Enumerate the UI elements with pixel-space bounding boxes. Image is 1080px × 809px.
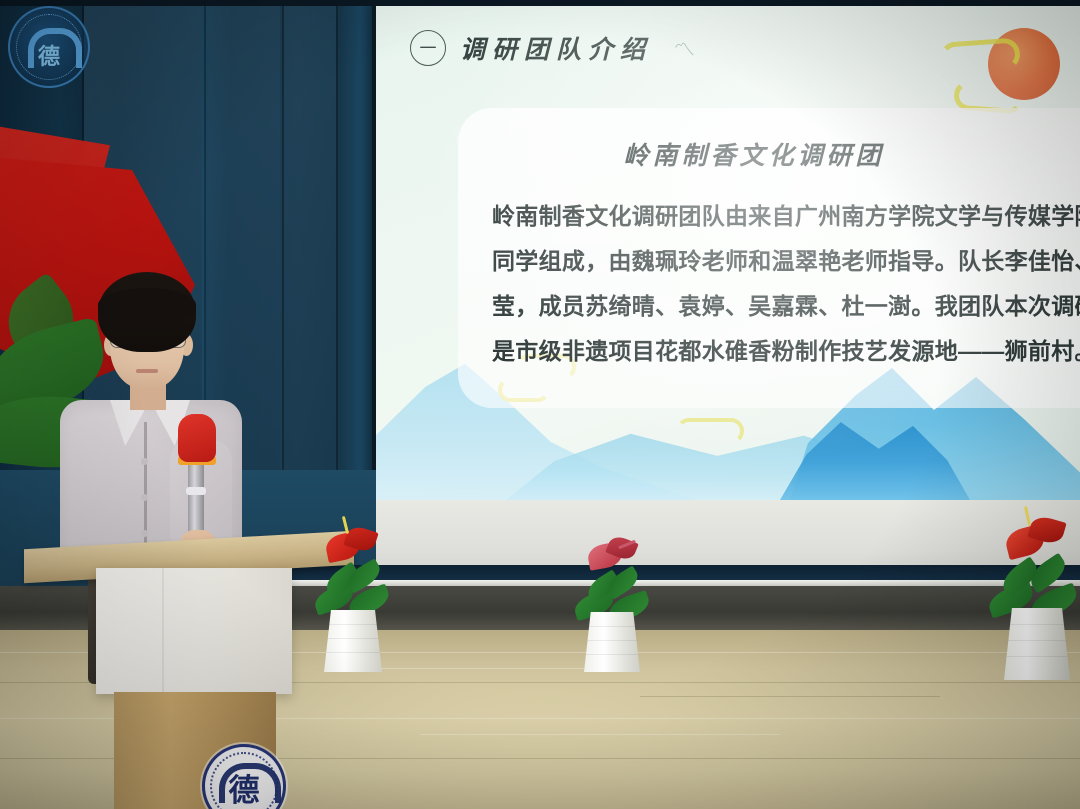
slide-section-title: 调研团队介绍: [460, 30, 652, 66]
section-index-circle: 一: [410, 30, 446, 66]
slide-content-card: 岭南制香文化调研团 岭南制香文化调研团队由来自广州南方学院文学与传媒学院的6 同…: [458, 108, 1080, 408]
university-emblem-icon: 德: [202, 744, 286, 809]
podium-body: [96, 568, 292, 694]
presentation-photo-scene: 一 调研团队介绍 〽 岭南制香文化调研团 岭南制香文化调研团队由来自广州南方学院…: [0, 0, 1080, 809]
microphone-head: [178, 414, 216, 462]
potted-plant-right: [996, 504, 1076, 680]
slide-body-line: 是市级非遗项目花都水碓香粉制作技艺发源地——狮前村。: [492, 329, 1080, 374]
projection-screen: 一 调研团队介绍 〽 岭南制香文化调研团 岭南制香文化调研团队由来自广州南方学院…: [376, 0, 1080, 500]
cloud-swirl-icon: [676, 418, 744, 444]
slide-body-line: 岭南制香文化调研团队由来自广州南方学院文学与传媒学院的6: [492, 194, 1080, 239]
potted-plant-center: [578, 524, 646, 672]
slide-body-line: 同学组成，由魏珮玲老师和温翠艳老师指导。队长李佳怡、钟洁: [492, 239, 1080, 284]
slide-section-header: 一 调研团队介绍 〽: [410, 30, 694, 66]
university-emblem-logo: 德: [8, 6, 90, 88]
plant-pot: [324, 610, 382, 672]
slide-body-line: 莹，成员苏绮晴、袁婷、吴嘉霖、杜一澍。我团队本次调研地点: [492, 284, 1080, 329]
section-index-label: 一: [420, 40, 437, 57]
presenter-hair-fringe: [98, 288, 196, 322]
photo-top-bar: [0, 0, 1080, 6]
potted-plant-left: [318, 512, 386, 672]
microphone-ring: [186, 487, 206, 495]
plant-foliage: [318, 512, 386, 616]
plant-foliage: [578, 524, 646, 620]
plant-foliage: [996, 502, 1076, 618]
mouth: [136, 369, 158, 373]
podium-wood-panel: 德: [114, 692, 276, 809]
brush-stroke-icon: 〽: [672, 32, 696, 64]
plant-pot: [1004, 608, 1070, 680]
plant-pot: [584, 612, 640, 672]
student-presenter: [52, 272, 252, 572]
podium: 德: [72, 540, 312, 809]
slide-card-title: 岭南制香文化调研团: [458, 108, 1080, 172]
slide-card-body: 岭南制香文化调研团队由来自广州南方学院文学与传媒学院的6 同学组成，由魏珮玲老师…: [458, 194, 1080, 374]
cloud-swirl-icon: [939, 37, 1021, 75]
